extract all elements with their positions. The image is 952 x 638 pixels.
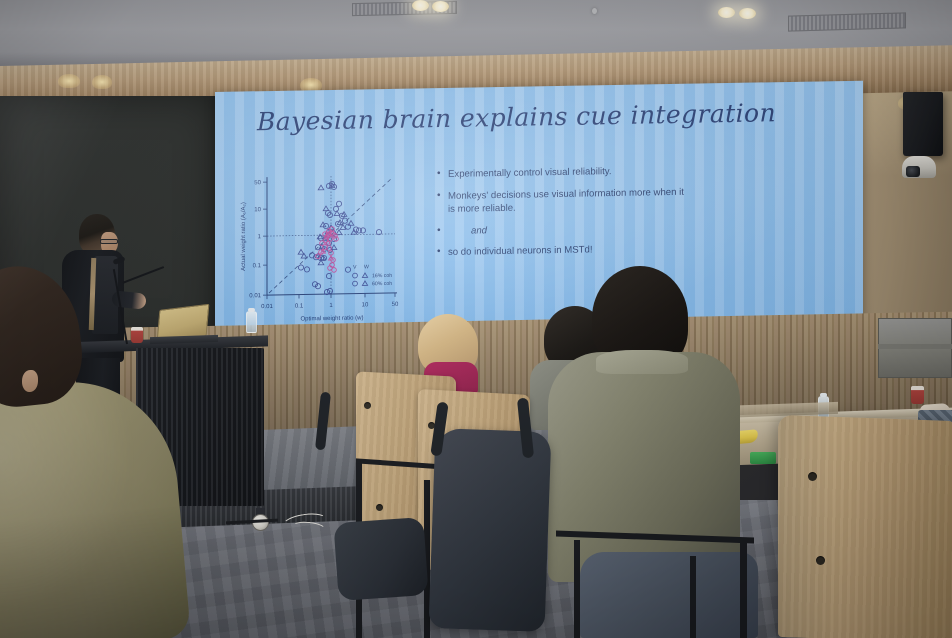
foreground-seat[interactable]	[778, 415, 952, 638]
seat-hole-icon	[808, 472, 817, 481]
list-item: Monkeys' decisions use visual informatio…	[437, 185, 692, 217]
seat-hole-icon	[364, 402, 371, 409]
seat-hole-icon	[376, 504, 383, 511]
bottle-cap-icon	[820, 393, 827, 397]
legend-header-v: V	[353, 265, 357, 271]
seat-frame	[690, 556, 696, 638]
svg-text:0.01: 0.01	[249, 293, 261, 299]
backpack	[429, 428, 552, 632]
foreground-coat	[0, 374, 191, 638]
camera-lens-icon	[906, 166, 920, 177]
coffee-cup	[911, 386, 924, 404]
legend-label-60: 60% coh	[372, 281, 392, 287]
ceiling-fixture-icon	[592, 8, 597, 14]
svg-text:1: 1	[258, 234, 262, 240]
green-container	[750, 452, 776, 464]
ceiling-vent-icon	[788, 12, 906, 31]
chart-legend: V W 16% coh 60% coh	[353, 264, 393, 288]
ceiling-light-icon	[739, 8, 756, 19]
ceiling-light-icon	[718, 7, 735, 18]
svg-text:10: 10	[362, 302, 369, 308]
attendee-jeans	[580, 552, 758, 638]
ceiling-light-icon	[412, 0, 429, 11]
glasses-icon	[100, 239, 118, 244]
beam-light-glow	[92, 75, 112, 89]
legend-header-w: W	[364, 264, 369, 270]
bottle-cap-icon	[248, 308, 255, 312]
ceiling-light-icon	[432, 1, 449, 12]
wall-speaker	[903, 92, 943, 156]
beam-light-glow	[58, 74, 80, 88]
legend-label-16: 16% coh	[372, 273, 392, 279]
svg-text:0.1: 0.1	[295, 303, 304, 309]
list-item: Experimentally control visual reliabilit…	[437, 164, 692, 182]
svg-text:50: 50	[254, 180, 261, 186]
svg-text:0.01: 0.01	[261, 304, 273, 310]
slide-title: Bayesian brain explains cue integration	[257, 97, 827, 136]
seat-frame	[574, 540, 580, 638]
x-axis-label: Optimal weight ratio (w)	[300, 315, 363, 322]
lecture-hall-scene: Bayesian brain explains cue integration	[0, 0, 952, 638]
ear	[22, 370, 38, 392]
water-bottle	[246, 311, 257, 333]
scatter-plot: 50 10 1 0.1 0.01 0.01 0.1 1	[233, 166, 423, 341]
slide-bullet-list: Experimentally control visual reliabilit…	[437, 164, 692, 268]
svg-text:0.1: 0.1	[253, 263, 262, 269]
attendee-collar	[596, 350, 688, 374]
svg-text:50: 50	[392, 302, 399, 308]
seat-frame	[740, 540, 747, 638]
foreground-attendee	[0, 266, 200, 638]
chart-svg: 50 10 1 0.1 0.01 0.01 0.1 1	[233, 166, 423, 341]
series-16-coh	[298, 180, 381, 295]
list-item: so do individual neurons in MSTd!	[437, 242, 692, 260]
svg-text:1: 1	[329, 303, 333, 309]
av-shelf	[878, 344, 952, 349]
list-item: and	[437, 221, 692, 239]
backpack	[333, 517, 428, 601]
y-axis-label: Actual weight ratio (A₁/A₂)	[241, 202, 247, 271]
svg-text:10: 10	[254, 207, 261, 213]
seat-hole-icon	[816, 556, 825, 565]
